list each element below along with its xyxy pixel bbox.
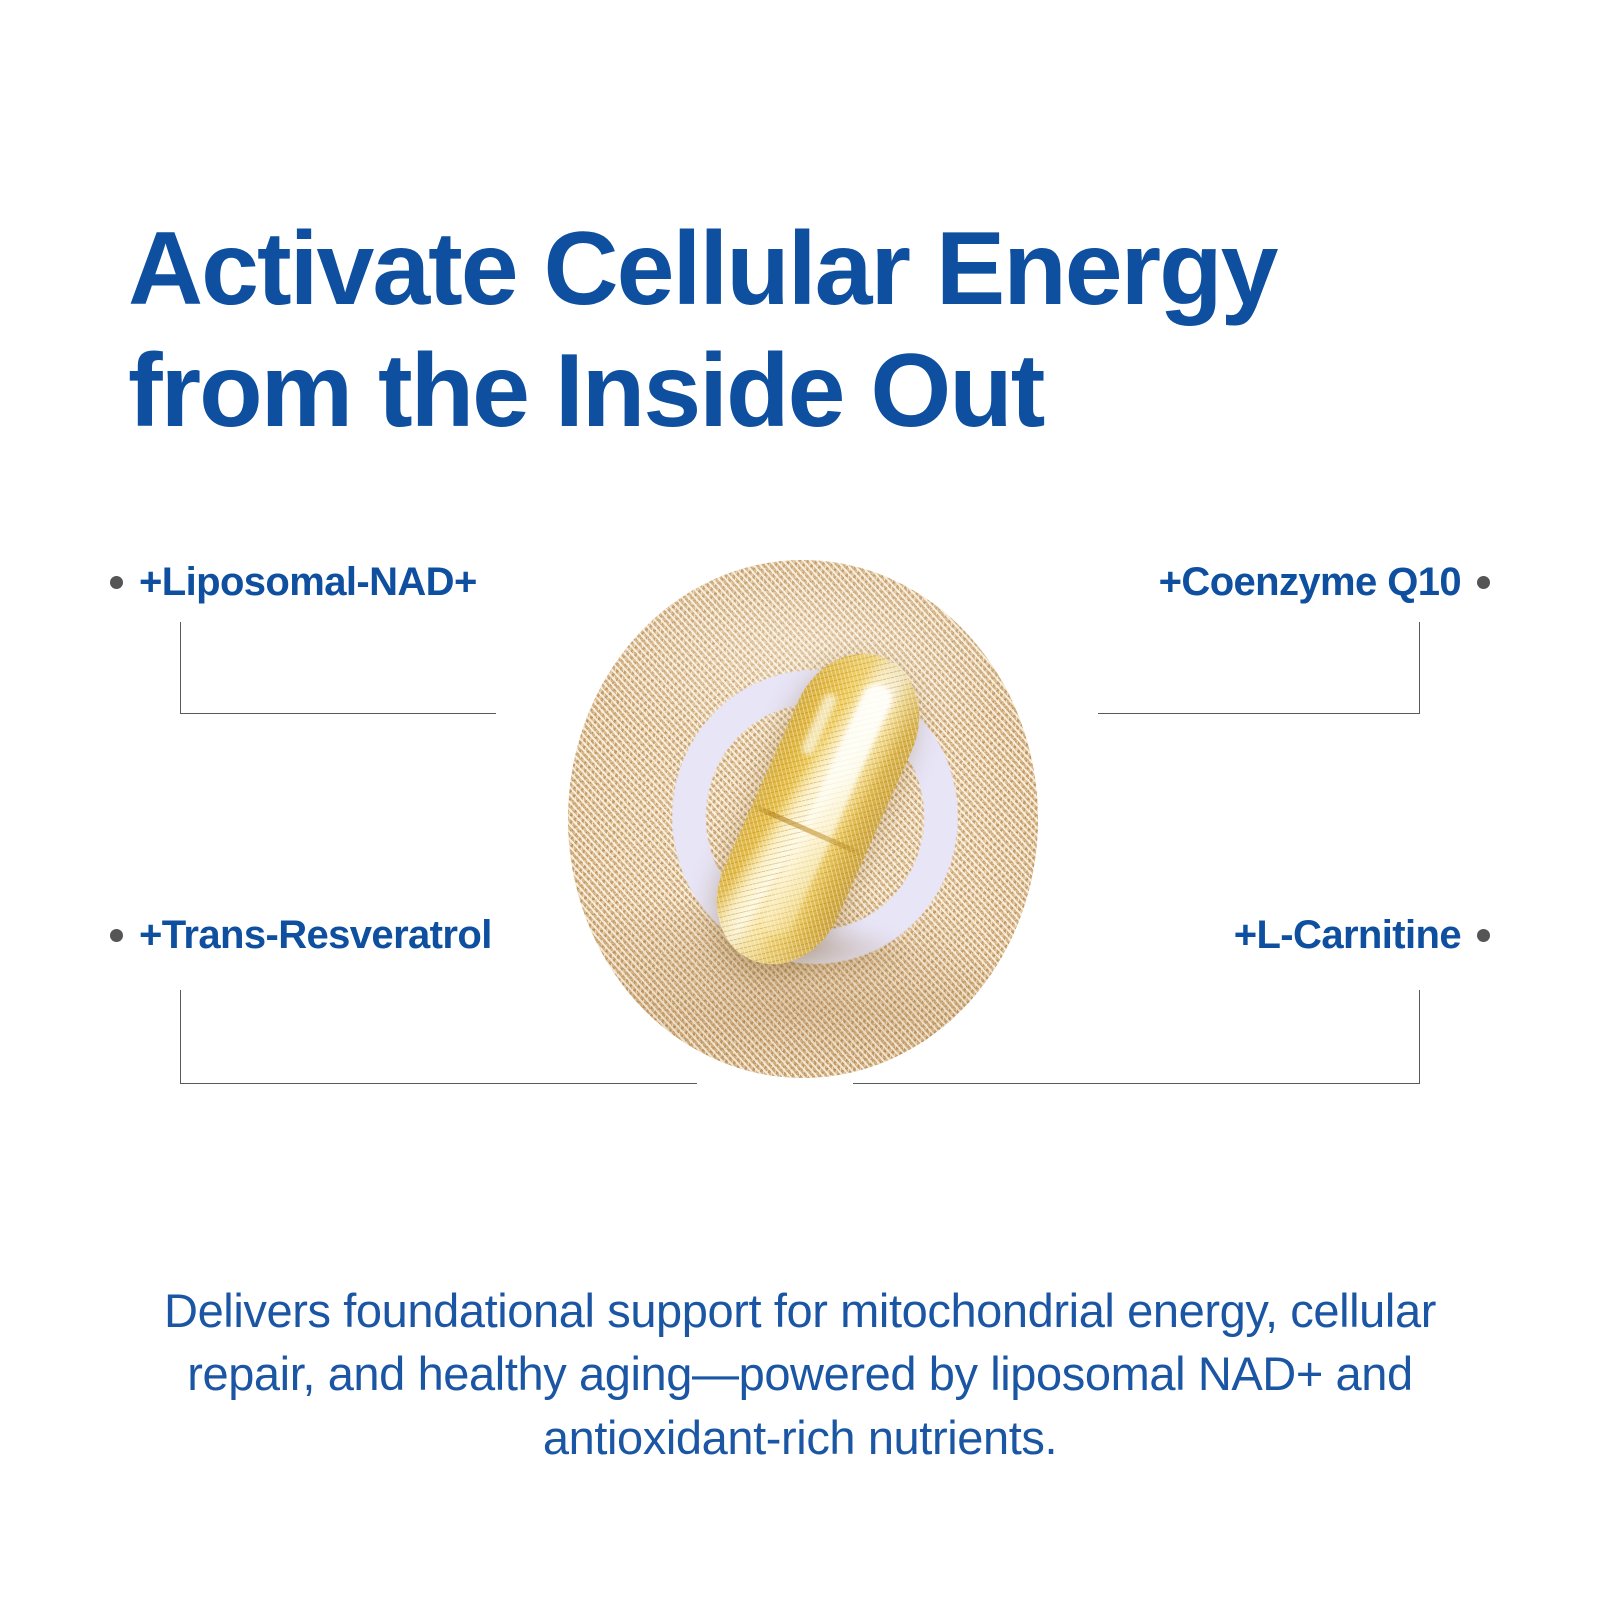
leader-line-liposomal-nad: [180, 622, 496, 714]
callout-coenzyme-q10: +Coenzyme Q10: [1159, 560, 1490, 605]
page-title: Activate Cellular Energy from the Inside…: [128, 208, 1488, 453]
callout-trans-resveratrol: +Trans-Resveratrol: [110, 913, 492, 958]
bullet-dot-icon: [1477, 576, 1490, 589]
bullet-dot-icon: [110, 929, 123, 942]
capsule-highlight-secondary: [800, 691, 839, 757]
leader-line-coenzyme-q10: [1098, 622, 1420, 714]
bullet-dot-icon: [110, 576, 123, 589]
marketing-graphic-canvas: Activate Cellular Energy from the Inside…: [0, 0, 1600, 1600]
leader-line-trans-resveratrol: [180, 990, 697, 1084]
callout-l-carnitine: +L-Carnitine: [1234, 913, 1490, 958]
body-description: Delivers foundational support for mitoch…: [150, 1279, 1450, 1469]
callout-label-text: +L-Carnitine: [1234, 913, 1461, 958]
leader-line-l-carnitine: [853, 990, 1420, 1084]
callout-label-text: +Coenzyme Q10: [1159, 560, 1461, 605]
callout-liposomal-nad: +Liposomal-NAD+: [110, 560, 477, 605]
bullet-dot-icon: [1477, 929, 1490, 942]
callout-label-text: +Trans-Resveratrol: [139, 913, 492, 958]
callout-label-text: +Liposomal-NAD+: [139, 560, 477, 605]
